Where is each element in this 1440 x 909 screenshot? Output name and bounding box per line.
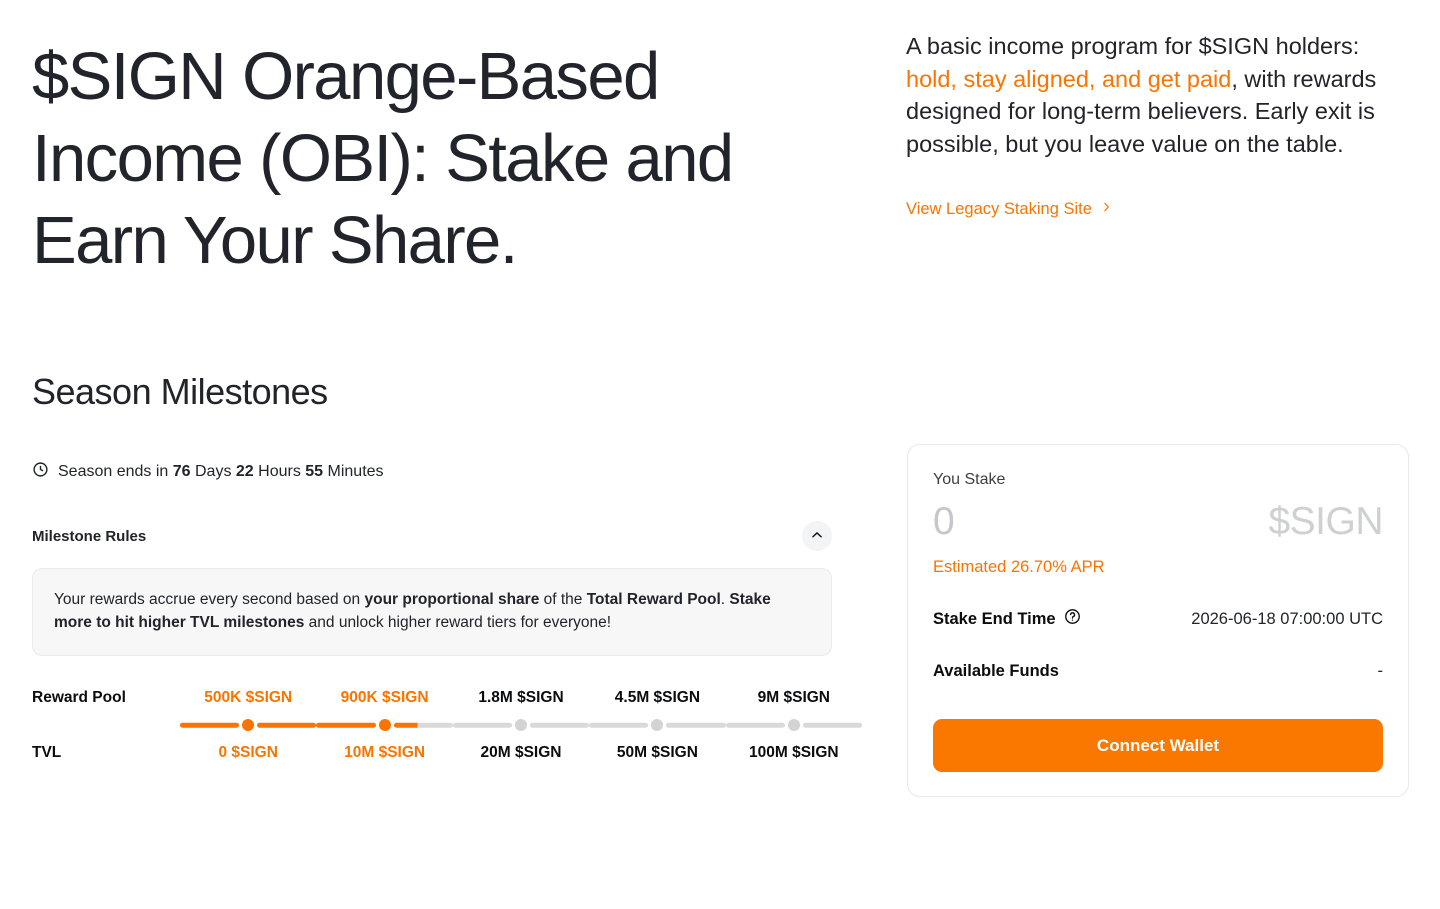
countdown-minutes-value: 55 bbox=[305, 463, 323, 480]
connect-wallet-button[interactable]: Connect Wallet bbox=[933, 719, 1383, 772]
legacy-link-label: View Legacy Staking Site bbox=[906, 200, 1092, 219]
milestone-progress-bar[interactable] bbox=[180, 718, 862, 732]
reward-pool-values: 500K $SIGN900K $SIGN1.8M $SIGN4.5M $SIGN… bbox=[180, 689, 862, 707]
rules-bold1: your proportional share bbox=[364, 591, 539, 608]
stake-token-suffix: $SIGN bbox=[1268, 500, 1383, 544]
rules-part2: of the bbox=[539, 591, 586, 608]
stake-amount-input[interactable] bbox=[933, 500, 1193, 544]
season-countdown: Season ends in 76 Days 22 Hours 55 Minut… bbox=[32, 461, 862, 483]
season-milestones-heading: Season Milestones bbox=[32, 370, 862, 414]
page-title: $SIGN Orange-Based Income (OBI): Stake a… bbox=[32, 36, 822, 282]
milestone-progress-row bbox=[32, 718, 862, 732]
reward-pool-tier-5: 9M $SIGN bbox=[726, 689, 862, 707]
reward-pool-tier-4: 4.5M $SIGN bbox=[589, 689, 725, 707]
countdown-hours-unit: Hours bbox=[254, 463, 306, 480]
milestone-dot-2[interactable] bbox=[379, 719, 391, 731]
milestone-line-right-4 bbox=[666, 723, 725, 728]
available-funds-row: Available Funds - bbox=[933, 662, 1383, 681]
milestone-segment-1 bbox=[180, 718, 316, 732]
intro-part1: A basic income program for $SIGN holders… bbox=[906, 33, 1359, 59]
tvl-row: TVL 0 $SIGN10M $SIGN20M $SIGN50M $SIGN10… bbox=[32, 744, 862, 762]
milestone-rules-box: Your rewards accrue every second based o… bbox=[32, 568, 832, 656]
estimated-apr: Estimated 26.70% APR bbox=[933, 558, 1383, 577]
countdown-days-value: 76 bbox=[173, 463, 191, 480]
reward-pool-tier-2: 900K $SIGN bbox=[316, 689, 452, 707]
reward-pool-row: Reward Pool 500K $SIGN900K $SIGN1.8M $SI… bbox=[32, 689, 862, 707]
right-column: A basic income program for $SIGN holders… bbox=[906, 0, 1408, 219]
tvl-values: 0 $SIGN10M $SIGN20M $SIGN50M $SIGN100M $… bbox=[180, 744, 862, 762]
rules-part4: and unlock higher reward tiers for every… bbox=[304, 614, 611, 631]
tvl-tier-4: 50M $SIGN bbox=[589, 744, 725, 762]
milestone-segment-4 bbox=[589, 718, 725, 732]
milestone-track: Reward Pool 500K $SIGN900K $SIGN1.8M $SI… bbox=[32, 689, 862, 762]
reward-pool-tier-1: 500K $SIGN bbox=[180, 689, 316, 707]
milestone-line-left-1 bbox=[180, 723, 239, 728]
reward-pool-tier-3: 1.8M $SIGN bbox=[453, 689, 589, 707]
tvl-tier-5: 100M $SIGN bbox=[726, 744, 862, 762]
stake-end-time-label: Stake End Time bbox=[933, 610, 1056, 629]
milestone-segment-2 bbox=[316, 718, 452, 732]
available-funds-label: Available Funds bbox=[933, 662, 1059, 681]
chevron-right-icon bbox=[1101, 200, 1112, 219]
clock-icon bbox=[32, 461, 49, 483]
intro-paragraph: A basic income program for $SIGN holders… bbox=[906, 30, 1401, 160]
milestone-segment-5 bbox=[726, 718, 862, 732]
milestone-rules-collapse-button[interactable] bbox=[802, 521, 832, 551]
milestone-line-left-2 bbox=[316, 723, 375, 728]
intro-highlight: hold, stay aligned, and get paid bbox=[906, 66, 1231, 92]
milestone-rules-title: Milestone Rules bbox=[32, 528, 146, 545]
tvl-tier-2: 10M $SIGN bbox=[316, 744, 452, 762]
rules-bold2: Total Reward Pool bbox=[587, 591, 721, 608]
stake-card: You Stake $SIGN Estimated 26.70% APR Sta… bbox=[907, 444, 1409, 797]
season-milestones-section: Season Milestones Season ends in 76 Days… bbox=[32, 370, 862, 762]
countdown-hours-value: 22 bbox=[236, 463, 254, 480]
countdown-minutes-unit: Minutes bbox=[323, 463, 383, 480]
view-legacy-staking-site-link[interactable]: View Legacy Staking Site bbox=[906, 200, 1112, 219]
tvl-axis-label: TVL bbox=[32, 744, 180, 762]
tvl-tier-1: 0 $SIGN bbox=[180, 744, 316, 762]
milestone-dot-3[interactable] bbox=[515, 719, 527, 731]
milestone-line-right-2 bbox=[394, 723, 453, 728]
milestone-dot-5[interactable] bbox=[788, 719, 800, 731]
rules-part1: Your rewards accrue every second based o… bbox=[54, 591, 364, 608]
tvl-tier-3: 20M $SIGN bbox=[453, 744, 589, 762]
obi-staking-page: $SIGN Orange-Based Income (OBI): Stake a… bbox=[0, 0, 1440, 909]
milestone-dot-1[interactable] bbox=[242, 719, 254, 731]
available-funds-value: - bbox=[1378, 662, 1384, 681]
left-column: $SIGN Orange-Based Income (OBI): Stake a… bbox=[32, 0, 862, 762]
reward-pool-axis-label: Reward Pool bbox=[32, 689, 180, 707]
stake-end-time-value: 2026-06-18 07:00:00 UTC bbox=[1191, 610, 1383, 629]
milestone-line-left-4 bbox=[589, 723, 648, 728]
milestone-segment-3 bbox=[453, 718, 589, 732]
stake-end-time-row: Stake End Time 2026-06-18 07:00:00 UTC bbox=[933, 608, 1383, 630]
milestone-dot-4[interactable] bbox=[651, 719, 663, 731]
chevron-up-icon bbox=[810, 528, 824, 545]
stake-amount-row: $SIGN bbox=[933, 500, 1383, 544]
help-circle-icon[interactable] bbox=[1064, 608, 1081, 630]
milestone-line-right-1 bbox=[257, 723, 316, 728]
milestone-line-left-5 bbox=[726, 723, 785, 728]
stake-end-time-label-group: Stake End Time bbox=[933, 608, 1081, 630]
milestone-rules-header[interactable]: Milestone Rules bbox=[32, 521, 832, 551]
you-stake-label: You Stake bbox=[933, 471, 1383, 489]
milestone-rules-text: Your rewards accrue every second based o… bbox=[54, 588, 810, 634]
countdown-days-unit: Days bbox=[191, 463, 236, 480]
countdown-text: Season ends in 76 Days 22 Hours 55 Minut… bbox=[58, 463, 384, 481]
milestone-line-right-5 bbox=[803, 723, 862, 728]
milestone-line-right-3 bbox=[530, 723, 589, 728]
countdown-prefix: Season ends in bbox=[58, 463, 173, 480]
milestone-line-left-3 bbox=[453, 723, 512, 728]
